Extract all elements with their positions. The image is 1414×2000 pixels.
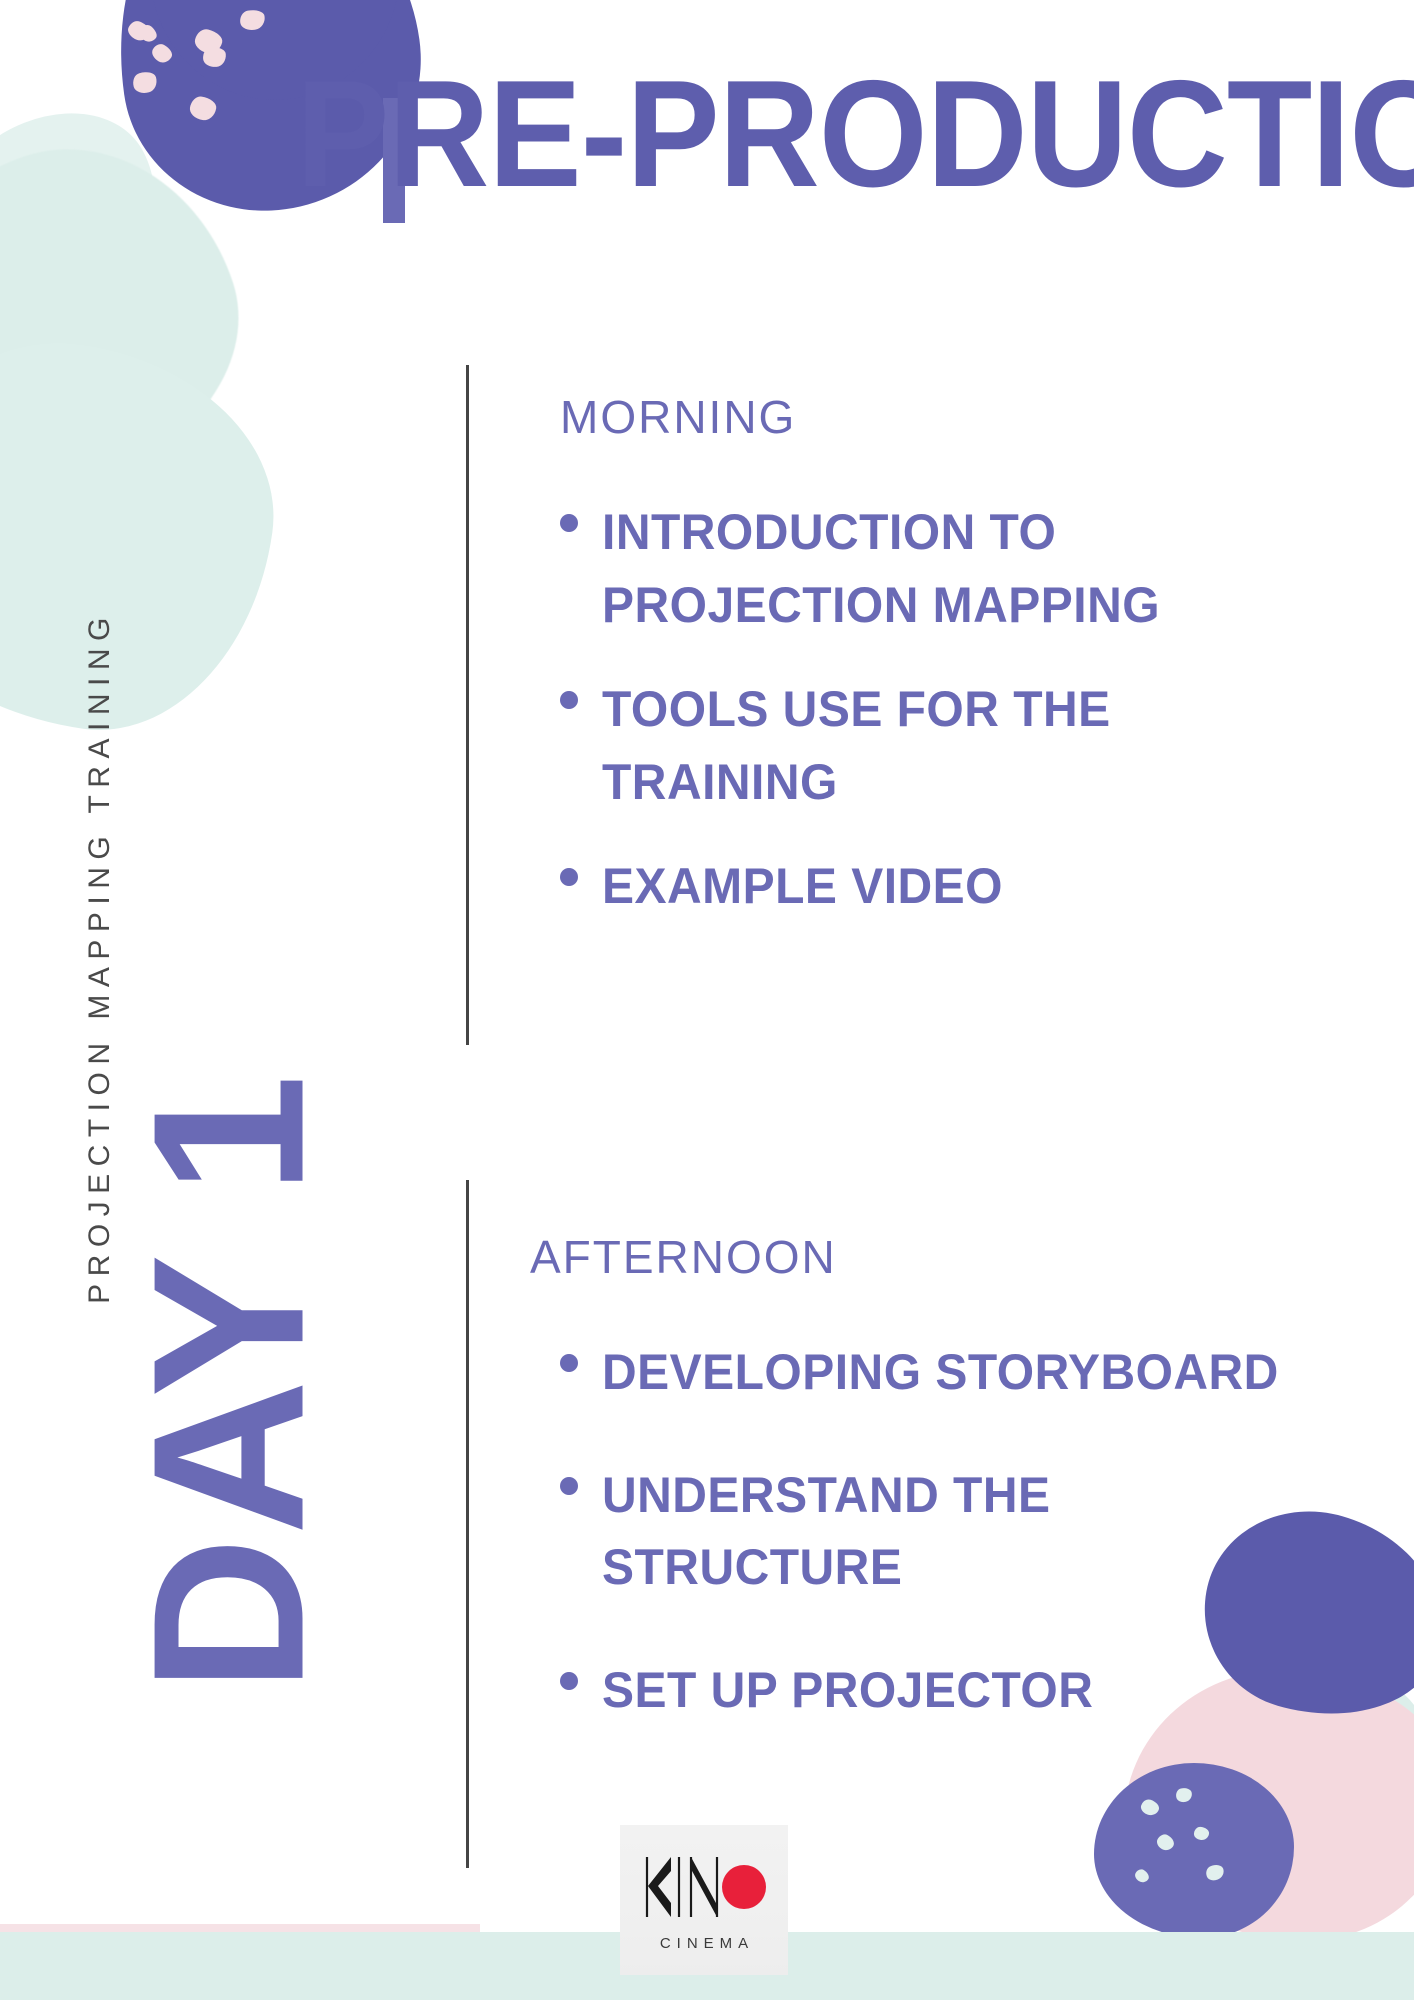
list-item-label: TOOLS USE FOR THE TRAINING <box>602 673 1320 818</box>
bullet-icon <box>560 1672 578 1690</box>
page-title: PRE-PRODUCTION <box>296 58 1414 210</box>
divider-morning <box>466 365 469 1045</box>
session-afternoon-items: DEVELOPING STORYBOARD UNDERSTAND THE STR… <box>560 1336 1350 1726</box>
list-item-label: EXAMPLE VIDEO <box>602 850 1003 923</box>
list-item-label: UNDERSTAND THE STRUCTURE <box>602 1459 1320 1604</box>
mint-brush-shape-3 <box>0 77 190 343</box>
pink-fleck-icon <box>202 46 227 68</box>
bullet-icon <box>560 691 578 709</box>
list-item: INTRODUCTION TO PROJECTION MAPPING <box>560 496 1350 641</box>
mint-speck-icon <box>1193 1826 1209 1840</box>
bullet-icon <box>560 1354 578 1372</box>
mint-speck-icon <box>1133 1867 1151 1885</box>
list-item-label: INTRODUCTION TO PROJECTION MAPPING <box>602 496 1320 641</box>
divider-afternoon <box>466 1180 469 1868</box>
list-item: UNDERSTAND THE STRUCTURE <box>560 1459 1350 1604</box>
session-afternoon-label: AFTERNOON <box>530 1230 1350 1284</box>
mint-brush-shape-1 <box>0 107 278 523</box>
session-morning: MORNING INTRODUCTION TO PROJECTION MAPPI… <box>560 390 1350 955</box>
kino-logo-icon <box>641 1849 767 1925</box>
bullet-icon <box>560 514 578 532</box>
pink-fleck-icon <box>131 69 160 96</box>
session-morning-label: MORNING <box>560 390 1350 444</box>
mint-speck-icon <box>1204 1862 1226 1883</box>
mint-speck-icon <box>1154 1832 1176 1853</box>
list-item-label: DEVELOPING STORYBOARD <box>602 1336 1279 1409</box>
bullet-icon <box>560 1477 578 1495</box>
pink-fleck-icon <box>136 22 159 45</box>
mint-brush-shape-2 <box>0 319 294 751</box>
day-label: DAY 1 <box>121 1053 336 1713</box>
pink-fleck-icon <box>188 95 217 122</box>
pink-band-bottom <box>0 1924 480 1938</box>
pink-fleck-icon <box>193 27 225 56</box>
session-afternoon: AFTERNOON DEVELOPING STORYBOARD UNDERSTA… <box>560 1230 1350 1776</box>
kino-cinema-logo: CINEMA <box>620 1825 788 1975</box>
list-item: EXAMPLE VIDEO <box>560 850 1350 923</box>
poster-canvas: PRE-PRODUCTION PROJECTION MAPPING TRAINI… <box>0 0 1414 2000</box>
pink-fleck-icon <box>125 19 152 44</box>
list-item: SET UP PROJECTOR <box>560 1654 1350 1727</box>
pink-fleck-icon <box>238 8 266 32</box>
session-morning-items: INTRODUCTION TO PROJECTION MAPPING TOOLS… <box>560 496 1350 923</box>
pink-fleck-icon <box>149 41 175 66</box>
list-item: TOOLS USE FOR THE TRAINING <box>560 673 1350 818</box>
mint-speck-icon <box>1175 1786 1194 1803</box>
bullet-icon <box>560 868 578 886</box>
list-item-label: SET UP PROJECTOR <box>602 1654 1093 1727</box>
kino-logo-wordmark: CINEMA <box>654 1935 754 1952</box>
purple-brush-bottom-right <box>1094 1763 1294 1938</box>
list-item: DEVELOPING STORYBOARD <box>560 1336 1350 1409</box>
mint-speck-icon <box>1139 1798 1161 1818</box>
